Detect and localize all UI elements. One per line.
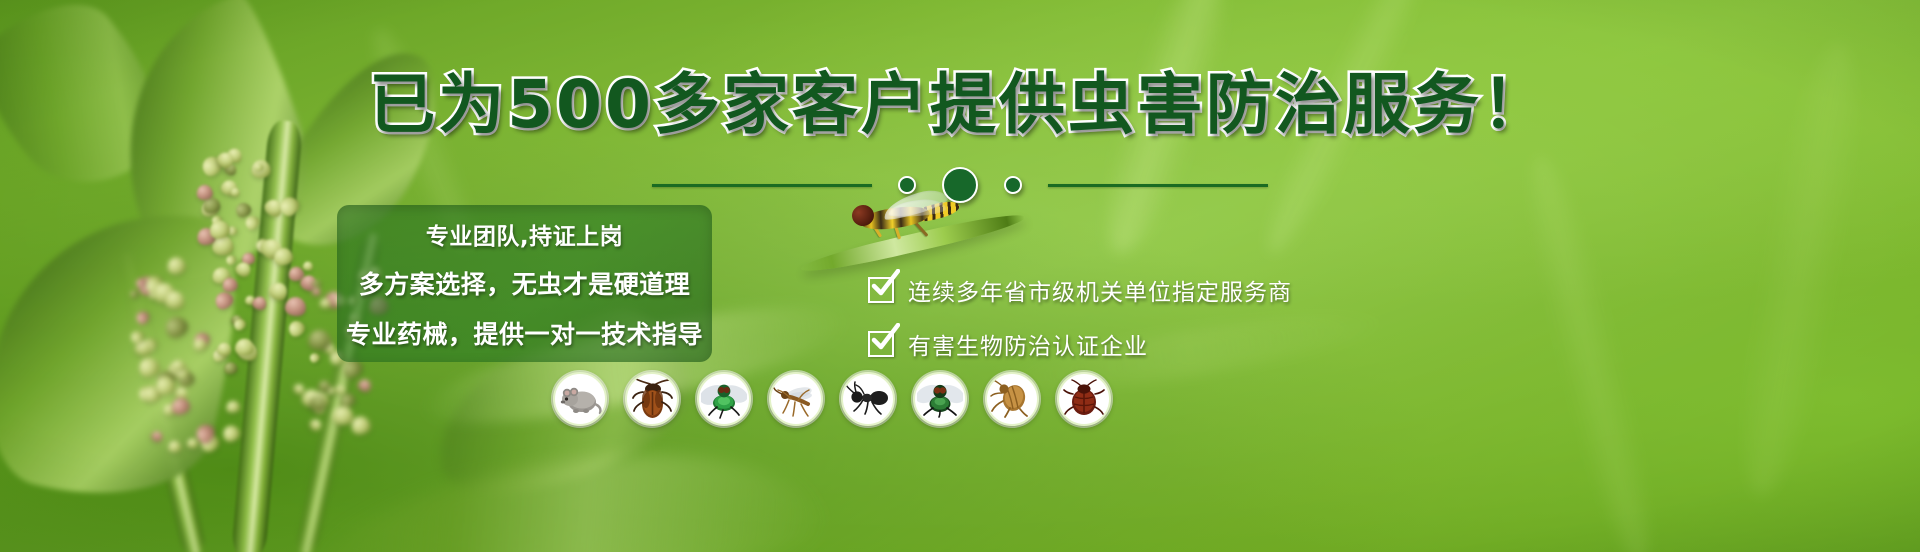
- divider-dot-small: [898, 176, 916, 194]
- feature-line-3: 专业药械，提供一对一技术指导: [346, 315, 703, 351]
- divider-line-left: [652, 184, 872, 187]
- pest-type-strip: [553, 372, 1111, 426]
- check-icon: [868, 277, 894, 303]
- housefly-icon[interactable]: [913, 372, 967, 426]
- divider-dot-small: [1004, 176, 1022, 194]
- divider-line-right: [1048, 184, 1268, 187]
- credentials-list: 连续多年省市级机关单位指定服务商 有害生物防治认证企业: [868, 273, 1292, 361]
- feature-line-1: 专业团队,持证上岗: [426, 217, 623, 251]
- check-icon: [868, 331, 894, 357]
- cockroach-icon[interactable]: [625, 372, 679, 426]
- list-item: 有害生物防治认证企业: [868, 327, 1292, 361]
- bedbug-icon[interactable]: [1057, 372, 1111, 426]
- pest-control-hero-banner: 已为500多家客户提供虫害防治服务！ 专业团队,持证上岗 多方案选择，无虫才是硬…: [0, 0, 1920, 552]
- rodent-icon[interactable]: [553, 372, 607, 426]
- hoverfly-icon: [838, 196, 968, 260]
- flea-icon[interactable]: [985, 372, 1039, 426]
- feature-line-2: 多方案选择，无虫才是硬道理: [359, 265, 691, 301]
- page-title: 已为500多家客户提供虫害防治服务！: [0, 72, 1920, 138]
- green-bottle-fly-icon[interactable]: [697, 372, 751, 426]
- list-item: 连续多年省市级机关单位指定服务商: [868, 273, 1292, 307]
- mosquito-icon[interactable]: [769, 372, 823, 426]
- list-item-label: 有害生物防治认证企业: [908, 327, 1148, 361]
- feature-highlight-text: 专业团队,持证上岗 多方案选择，无虫才是硬道理 专业药械，提供一对一技术指导: [337, 205, 712, 362]
- ant-icon[interactable]: [841, 372, 895, 426]
- list-item-label: 连续多年省市级机关单位指定服务商: [908, 273, 1292, 307]
